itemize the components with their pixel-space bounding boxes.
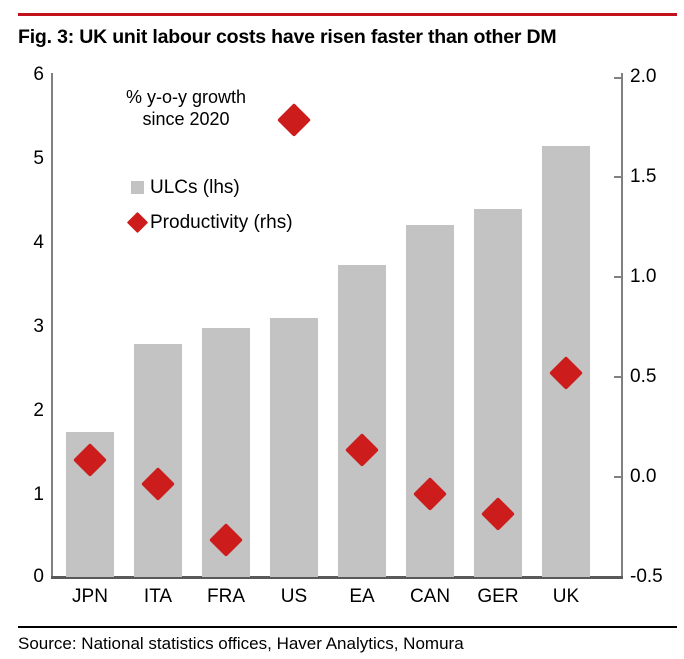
diamond-marker-icon: [127, 212, 148, 233]
right-axis-line: [621, 73, 623, 578]
legend-item-productivity[interactable]: Productivity (rhs): [150, 213, 293, 232]
y-axis-tick-4: 4: [14, 233, 44, 252]
figure-container: Fig. 3: UK unit labour costs have risen …: [0, 0, 684, 659]
x-axis-label-ea: EA: [327, 586, 397, 608]
y-axis-tick-5: 5: [14, 149, 44, 168]
x-axis-label-ger: GER: [463, 586, 533, 608]
bar-ita[interactable]: [134, 344, 182, 577]
y2-tick-mark-0-0: [614, 476, 621, 478]
y2-axis-tick-0-5: 0.5: [630, 367, 678, 386]
y2-tick-mark-0-5: [614, 376, 621, 378]
y2-axis-tick-0-0: 0.0: [630, 467, 678, 486]
x-axis-label-fra: FRA: [191, 586, 261, 608]
y-axis-tick-1: 1: [14, 485, 44, 504]
x-axis-label-jpn: JPN: [55, 586, 125, 608]
y-axis-tick-3: 3: [14, 317, 44, 336]
left-axis-line: [51, 73, 53, 578]
source-note: Source: National statistics offices, Hav…: [18, 634, 464, 654]
y2-axis-tick-neg-0-5: -0.5: [630, 567, 678, 586]
y2-tick-mark-1-5: [614, 176, 621, 178]
bar-us[interactable]: [270, 318, 318, 577]
x-axis-label-ita: ITA: [123, 586, 193, 608]
axis-units-note-line2: since 2020: [86, 108, 286, 130]
y-axis-tick-6: 6: [14, 65, 44, 84]
header-rule: [18, 13, 677, 16]
y2-tick-mark-1-0: [614, 276, 621, 278]
y2-axis-tick-1-0: 1.0: [630, 267, 678, 286]
page-title: Fig. 3: UK unit labour costs have risen …: [18, 26, 668, 49]
bar-can[interactable]: [406, 225, 454, 577]
square-marker-icon: [131, 181, 144, 194]
x-axis-label-us: US: [259, 586, 329, 608]
x-axis-label-can: CAN: [395, 586, 465, 608]
y-axis-tick-2: 2: [14, 401, 44, 420]
y2-axis-tick-2-0: 2.0: [630, 67, 678, 86]
legend-item-ulcs[interactable]: ULCs (lhs): [150, 178, 240, 197]
x-axis-label-uk: UK: [531, 586, 601, 608]
axis-units-note-line1: % y-o-y growth: [86, 86, 286, 108]
axis-units-note: % y-o-y growth since 2020: [86, 86, 286, 130]
y2-axis-tick-1-5: 1.5: [630, 167, 678, 186]
y-axis-tick-0: 0: [14, 567, 44, 586]
bar-ea[interactable]: [338, 265, 386, 577]
footer-rule: [18, 626, 677, 628]
y2-tick-mark-2-0: [614, 77, 621, 79]
